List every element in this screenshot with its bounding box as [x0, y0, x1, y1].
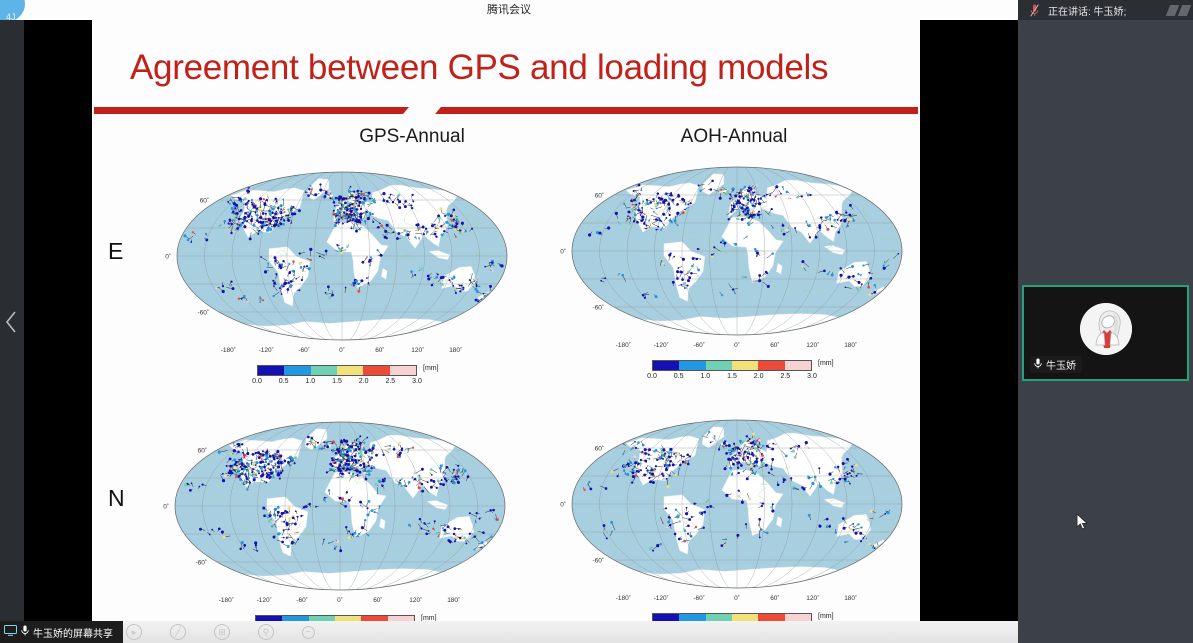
- colorbar-unit-label: [mm]: [423, 365, 439, 372]
- colorbar-tick-label: 2.5: [780, 373, 790, 380]
- lon-tick-label: 0˚: [734, 341, 740, 349]
- lon-tick-label: -120˚: [259, 346, 274, 354]
- map-plot-area: 60˚0˚-60˚-180˚-120˚-60˚0˚60˚120˚180˚: [150, 410, 530, 610]
- window-controls[interactable]: [1153, 2, 1189, 18]
- screen-share-badge: 牛玉娇的屏幕共享: [0, 621, 123, 643]
- board-icon[interactable]: ⊞: [214, 624, 230, 640]
- map-plot-area: 60˚0˚-60˚-180˚-120˚-60˚0˚60˚120˚180˚: [547, 408, 927, 608]
- map-panel-e-gps: 60˚0˚-60˚-180˚-120˚-60˚0˚60˚120˚180˚[mm]…: [152, 160, 532, 415]
- lon-tick-label: -60˚: [693, 594, 705, 602]
- lat-tick-label: 60˚: [198, 447, 207, 455]
- colorbar-tick-label: 1.0: [700, 373, 710, 380]
- microphone-icon: [1026, 0, 1042, 20]
- meeting-title: 腾讯会议: [0, 0, 1018, 20]
- colorbar: [mm]0.00.51.01.52.02.53.0: [652, 360, 832, 385]
- colorbar: [mm]0.00.51.01.52.02.53.0: [257, 365, 437, 390]
- annotation-tools[interactable]: ▸ ╱ ⊞ ⚲ −: [126, 623, 315, 641]
- lat-tick-label: 0˚: [560, 501, 566, 509]
- colorbar-swatch-1: [284, 366, 310, 375]
- world-map: 60˚0˚-60˚-180˚-120˚-60˚0˚60˚120˚180˚: [547, 155, 927, 355]
- row-label-east: E: [108, 238, 123, 265]
- colorbar-swatch-0: [258, 366, 284, 375]
- lon-tick-label: -60˚: [298, 346, 310, 354]
- screen-share-label: 牛玉娇的屏幕共享: [33, 625, 113, 640]
- lon-tick-label: 60˚: [770, 341, 779, 349]
- colorbar-tick-label: 0.5: [674, 373, 684, 380]
- lon-tick-label: -60˚: [296, 596, 308, 604]
- lon-tick-label: -120˚: [257, 596, 272, 604]
- colorbar-swatch-0: [653, 361, 679, 370]
- lon-tick-label: 0˚: [734, 594, 740, 602]
- monitor-icon: [4, 623, 17, 641]
- colorbar-swatch-1: [679, 361, 705, 370]
- map-panel-n-gps: 60˚0˚-60˚-180˚-120˚-60˚0˚60˚120˚180˚[mm]…: [150, 410, 530, 643]
- colorbar-swatch-2: [311, 366, 337, 375]
- pen-icon[interactable]: ╱: [170, 624, 186, 640]
- avatar: [1080, 303, 1132, 355]
- lon-tick-label: 180˚: [449, 346, 462, 354]
- colorbar-tick-label: 2.0: [754, 373, 764, 380]
- column-header-aoh: AOH-Annual: [614, 126, 854, 148]
- page-title: Agreement between GPS and loading models: [130, 48, 890, 88]
- lon-tick-label: 120˚: [806, 341, 819, 349]
- lat-tick-label: 60˚: [595, 192, 604, 200]
- colorbar-unit-label: [mm]: [818, 360, 834, 367]
- world-map: 60˚0˚-60˚-180˚-120˚-60˚0˚60˚120˚180˚: [547, 408, 927, 608]
- lon-tick-label: -180˚: [221, 346, 236, 354]
- lat-tick-label: 0˚: [163, 503, 169, 511]
- world-map: 60˚0˚-60˚-180˚-120˚-60˚0˚60˚120˚180˚: [152, 160, 532, 360]
- lon-tick-label: 60˚: [373, 596, 382, 604]
- lon-tick-label: -180˚: [616, 341, 631, 349]
- column-header-gps: GPS-Annual: [292, 126, 532, 148]
- chevron-icon-1: [1166, 5, 1179, 16]
- presentation-slide: Agreement between GPS and loading models…: [92, 20, 920, 623]
- colorbar-gradient: [652, 360, 812, 371]
- colorbar-swatch-4: [758, 361, 784, 370]
- tile-participant-name: 牛玉娇: [1046, 357, 1076, 372]
- colorbar-swatch-5: [390, 366, 416, 375]
- screen-share-toolbar: 牛玉娇的屏幕共享 ▸ ╱ ⊞ ⚲ −: [0, 621, 1018, 643]
- lon-tick-label: -180˚: [616, 594, 631, 602]
- lon-tick-label: 0˚: [337, 596, 343, 604]
- colorbar-swatch-3: [337, 366, 363, 375]
- chevron-left-icon: [5, 310, 19, 334]
- colorbar-tick-label: 0.0: [647, 373, 657, 380]
- lat-tick-label: -60˚: [593, 557, 605, 565]
- lat-tick-label: -60˚: [593, 304, 605, 312]
- colorbar-tick-label: 3.0: [412, 378, 422, 385]
- colorbar-tick-label: 3.0: [807, 373, 817, 380]
- meeting-top-bar: 腾讯会议 4J: [0, 0, 1018, 20]
- mouse-cursor: [1076, 513, 1089, 536]
- participant-video-tile[interactable]: 牛玉娇: [1022, 285, 1189, 381]
- lon-tick-label: 120˚: [409, 596, 422, 604]
- lat-tick-label: -60˚: [196, 559, 208, 567]
- app-root: 腾讯会议 4J 正在讲话: 牛玉娇;: [0, 0, 1193, 643]
- map-panel-e-aoh: 60˚0˚-60˚-180˚-120˚-60˚0˚60˚120˚180˚[mm]…: [547, 155, 927, 410]
- lat-tick-label: 0˚: [165, 253, 171, 261]
- tile-microphone-icon: [1034, 356, 1042, 374]
- map-panel-n-aoh: 60˚0˚-60˚-180˚-120˚-60˚0˚60˚120˚180˚[mm]…: [547, 408, 927, 643]
- map-plot-area: 60˚0˚-60˚-180˚-120˚-60˚0˚60˚120˚180˚: [547, 155, 927, 355]
- lon-tick-label: 180˚: [447, 596, 460, 604]
- lat-tick-label: -60˚: [198, 309, 210, 317]
- row-label-north: N: [108, 485, 125, 512]
- lon-tick-label: 180˚: [844, 594, 857, 602]
- lon-tick-label: 120˚: [411, 346, 424, 354]
- colorbar-gradient: [257, 365, 417, 376]
- colorbar-ticks: 0.00.51.01.52.02.53.0: [652, 373, 832, 385]
- colorbar-swatch-3: [732, 361, 758, 370]
- lon-tick-label: 120˚: [806, 594, 819, 602]
- colorbar-tick-label: 0.0: [252, 378, 262, 385]
- tile-nameplate: 牛玉娇: [1030, 356, 1082, 373]
- lon-tick-label: -120˚: [654, 594, 669, 602]
- colorbar-tick-label: 1.5: [727, 373, 737, 380]
- previous-panel-button[interactable]: [0, 20, 24, 623]
- speaking-status-text: 正在讲话: 牛玉娇;: [1048, 3, 1126, 18]
- lon-tick-label: -120˚: [654, 341, 669, 349]
- colorbar-unit-label: [mm]: [818, 613, 834, 620]
- play-icon[interactable]: ▸: [126, 624, 142, 640]
- speaking-status-bar: 正在讲话: 牛玉娇;: [1018, 0, 1193, 20]
- colorbar-swatch-2: [706, 361, 732, 370]
- chevron-icon-2: [1178, 5, 1191, 16]
- lat-tick-label: 0˚: [560, 248, 566, 256]
- lon-tick-label: -60˚: [693, 341, 705, 349]
- colorbar-tick-label: 1.5: [332, 378, 342, 385]
- minus-icon[interactable]: −: [302, 626, 315, 639]
- colorbar-tick-label: 1.0: [305, 378, 315, 385]
- title-underline: [94, 105, 918, 117]
- lat-tick-label: 60˚: [200, 197, 209, 205]
- colorbar-swatch-4: [363, 366, 389, 375]
- world-map: 60˚0˚-60˚-180˚-120˚-60˚0˚60˚120˚180˚: [150, 410, 530, 610]
- lon-tick-label: 0˚: [339, 346, 345, 354]
- share-microphone-icon: [21, 623, 29, 641]
- magnifier-icon[interactable]: ⚲: [258, 624, 274, 640]
- lat-tick-label: 60˚: [595, 445, 604, 453]
- lon-tick-label: 60˚: [770, 594, 779, 602]
- lon-tick-label: 60˚: [375, 346, 384, 354]
- lon-tick-label: 180˚: [844, 341, 857, 349]
- lon-tick-label: -180˚: [219, 596, 234, 604]
- map-plot-area: 60˚0˚-60˚-180˚-120˚-60˚0˚60˚120˚180˚: [152, 160, 532, 360]
- colorbar-ticks: 0.00.51.01.52.02.53.0: [257, 378, 437, 390]
- colorbar-tick-label: 2.0: [359, 378, 369, 385]
- colorbar-tick-label: 0.5: [279, 378, 289, 385]
- colorbar-tick-label: 2.5: [385, 378, 395, 385]
- colorbar-swatch-5: [785, 361, 811, 370]
